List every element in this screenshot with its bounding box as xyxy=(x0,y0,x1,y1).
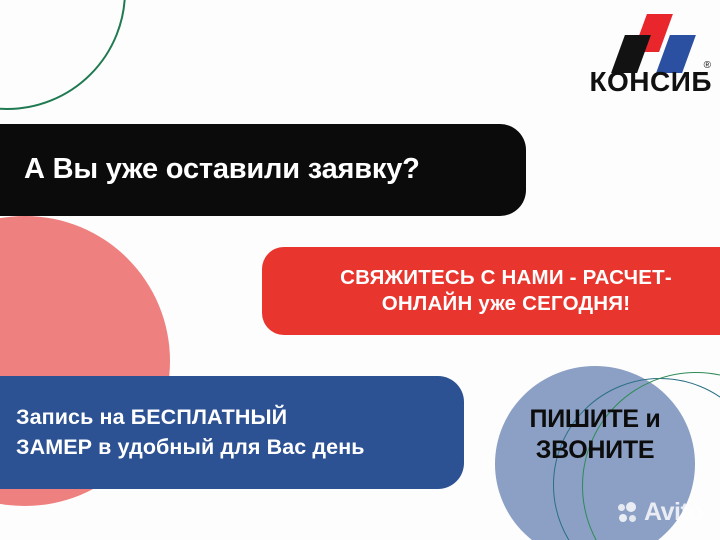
cta-banner-red-line2: ОНЛАЙН уже СЕГОДНЯ! xyxy=(284,291,720,317)
logo-mark-group xyxy=(566,14,712,68)
contact-circle-caption-line1: ПИШИТЕ и xyxy=(496,404,694,435)
headline-banner-black-text: А Вы уже оставили заявку? xyxy=(24,154,420,186)
logo-wordmark: КОНСИБ xyxy=(566,66,712,98)
contact-circle-caption-line2: ЗВОНИТЕ xyxy=(496,435,694,466)
offer-banner-blue: Запись на БЕСПЛАТНЫЙ ЗАМЕР в удобный для… xyxy=(0,376,464,489)
avito-watermark: Avito xyxy=(618,500,703,525)
company-logo: КОНСИБ ® xyxy=(566,14,712,110)
registered-trademark-icon: ® xyxy=(704,60,711,71)
cta-banner-red: СВЯЖИТЕСЬ С НАМИ - РАСЧЕТ- ОНЛАЙН уже СЕ… xyxy=(262,247,720,335)
avito-watermark-text: Avito xyxy=(644,500,703,525)
green-ring-decoration xyxy=(0,0,126,110)
headline-banner-black: А Вы уже оставили заявку? xyxy=(0,124,526,216)
offer-banner-blue-line2: ЗАМЕР в удобный для Вас день xyxy=(16,433,365,462)
avito-dots-icon xyxy=(618,502,642,524)
cta-banner-red-line1: СВЯЖИТЕСЬ С НАМИ - РАСЧЕТ- xyxy=(284,265,720,291)
offer-banner-blue-line1: Запись на БЕСПЛАТНЫЙ xyxy=(16,403,365,432)
contact-circle-caption: ПИШИТЕ и ЗВОНИТЕ xyxy=(496,404,694,465)
cta-banner-red-text: СВЯЖИТЕСЬ С НАМИ - РАСЧЕТ- ОНЛАЙН уже СЕ… xyxy=(284,265,720,317)
poster-canvas: КОНСИБ ® А Вы уже оставили заявку? СВЯЖИ… xyxy=(0,0,720,540)
offer-banner-blue-text: Запись на БЕСПЛАТНЫЙ ЗАМЕР в удобный для… xyxy=(16,403,365,461)
